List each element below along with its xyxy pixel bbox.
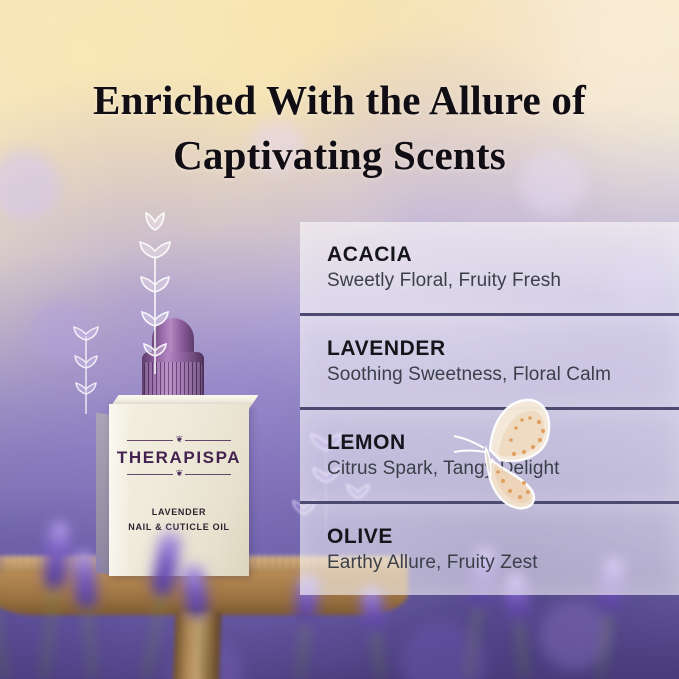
scent-row-lavender: LAVENDER Soothing Sweetness, Floral Calm [300, 313, 679, 407]
scent-name: LAVENDER [327, 337, 679, 361]
scent-description: Earthy Allure, Fruity Zest [327, 552, 679, 574]
lavender-sprig [83, 551, 92, 679]
lavender-sprig [370, 588, 380, 679]
scent-description: Sweetly Floral, Fruity Fresh [327, 270, 679, 292]
scent-row-acacia: ACACIA Sweetly Floral, Fruity Fresh [300, 222, 679, 313]
scent-name: OLIVE [327, 525, 679, 549]
page-headline: Enriched With the Allure of Captivating … [0, 73, 679, 182]
scent-list-panel: ACACIA Sweetly Floral, Fruity Fresh LAVE… [300, 222, 679, 595]
scent-name: ACACIA [327, 243, 679, 267]
scent-description: Citrus Spark, Tangy Delight [327, 458, 679, 480]
scent-row-olive: OLIVE Earthy Allure, Fruity Zest [300, 501, 679, 595]
lavender-sprig [0, 491, 4, 679]
marketing-image: ❦ THERAPISPA ❦ LAVENDER NAIL & CUTICLE O… [0, 0, 679, 679]
lavender-sprig [192, 564, 206, 679]
lavender-sprig [146, 531, 172, 679]
lavender-sprig [44, 520, 61, 679]
scent-name: LEMON [327, 431, 679, 455]
headline-line-2: Captivating Scents [0, 128, 679, 183]
scent-description: Soothing Sweetness, Floral Calm [327, 364, 679, 386]
scent-row-lemon: LEMON Citrus Spark, Tangy Delight [300, 407, 679, 501]
headline-line-1: Enriched With the Allure of [93, 77, 586, 123]
